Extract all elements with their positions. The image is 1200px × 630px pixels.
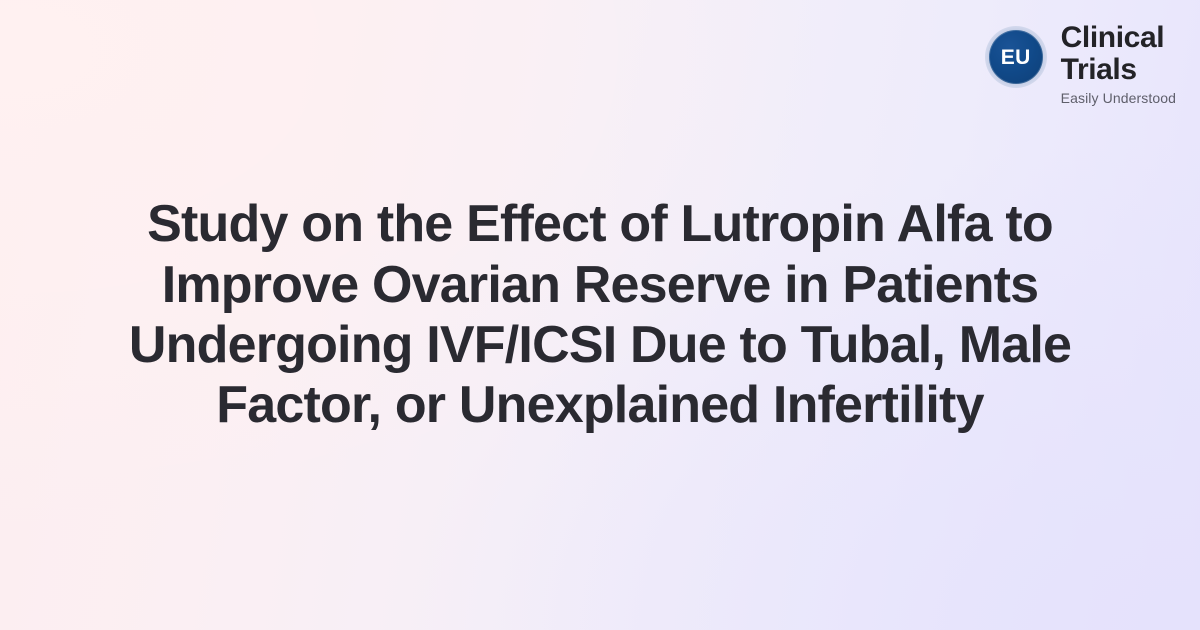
- og-share-card: EU Clinical Trials Easily Understood Stu…: [0, 0, 1200, 630]
- page-title: Study on the Effect of Lutropin Alfa to …: [110, 194, 1090, 435]
- headline-container: Study on the Effect of Lutropin Alfa to …: [0, 0, 1200, 630]
